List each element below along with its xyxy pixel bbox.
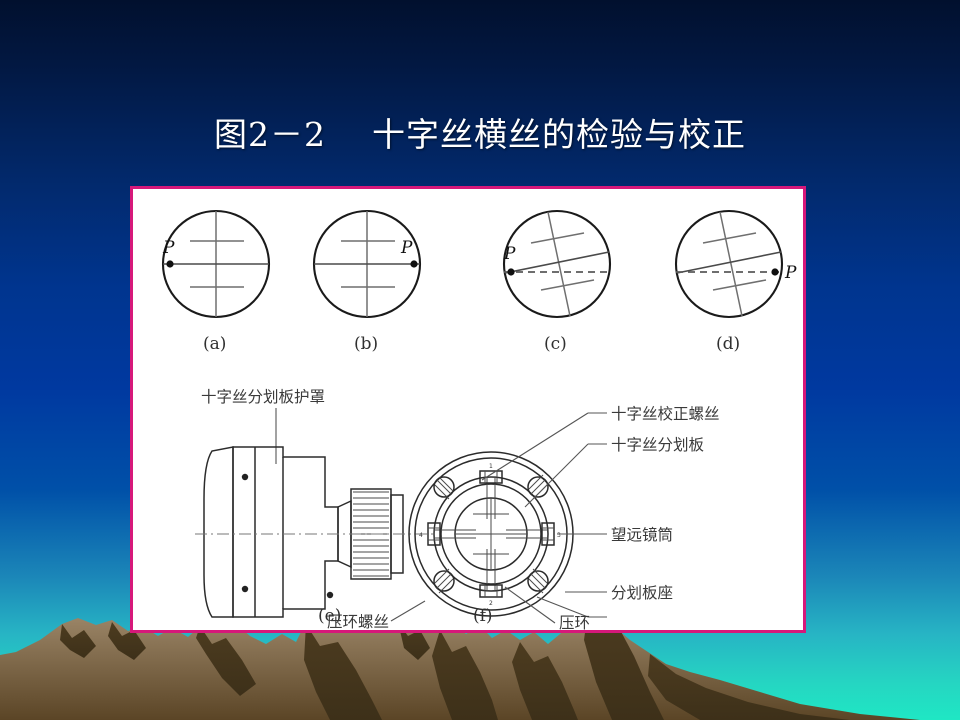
- screw-dot-upper-e: [242, 474, 248, 480]
- screw-dot-lower-e: [242, 586, 248, 592]
- reticle-view-d: P (d): [676, 211, 797, 354]
- point-p-label-b: P: [400, 238, 413, 258]
- caption-d: (d): [716, 334, 740, 354]
- callout-label-plate-seat: 分划板座: [611, 584, 673, 602]
- callout-label-telescope-tube: 望远镜筒: [611, 525, 673, 544]
- reticle-view-b: P (b): [314, 211, 420, 354]
- page-title: 图2－2 十字丝横丝的检验与校正: [0, 108, 960, 156]
- callout-leader-reticle-plate: [525, 444, 588, 507]
- section-view-f: 1 2 3: [409, 452, 573, 626]
- point-p-marker-c: [507, 268, 514, 275]
- callout-label-reticle-cover: 十字丝分划板护罩: [201, 388, 325, 406]
- point-p-marker-d: [771, 268, 778, 275]
- callout-leader-correction-screw: [482, 413, 588, 480]
- point-p-marker-b: [410, 260, 417, 267]
- callout-label-correction-screw: 十字丝校正螺丝: [611, 405, 720, 423]
- screw-number-4: 4: [419, 532, 423, 539]
- reticle-view-a: P (a): [162, 211, 269, 354]
- screw-number-1: 1: [489, 463, 493, 470]
- screw-dot-right-e: [327, 592, 333, 598]
- caption-c: (c): [544, 334, 567, 354]
- callout-label-press-ring: 压环: [559, 614, 590, 630]
- figure-panel: .outline{fill:none;stroke:#1a1a1a;stroke…: [130, 186, 806, 633]
- ring-screw-bottom-left: [434, 569, 454, 593]
- reticle-view-c: P (c): [503, 211, 610, 354]
- screw-number-3: 3: [557, 532, 561, 539]
- callout-label-reticle-plate: 十字丝分划板: [611, 436, 704, 454]
- point-p-label-c: P: [503, 244, 516, 264]
- callout-label-ring-screw: 压环螺丝: [327, 613, 389, 630]
- caption-a: (a): [203, 334, 226, 354]
- slide-canvas: 图2－2 十字丝横丝的检验与校正 .outline{fill:none;stro…: [0, 0, 960, 720]
- caption-f: (f): [473, 606, 493, 626]
- point-p-label-d: P: [784, 263, 797, 283]
- section-view-e: 十字丝分划板护罩: [195, 388, 433, 626]
- callout-leader-ring-screw: [391, 601, 425, 621]
- caption-b: (b): [354, 334, 378, 354]
- point-p-label-a: P: [162, 238, 175, 258]
- figure-illustration: .outline{fill:none;stroke:#1a1a1a;stroke…: [133, 189, 803, 630]
- ring-screw-top-left: [434, 477, 454, 499]
- ring-screw-bottom-right: [528, 569, 548, 593]
- point-p-marker-a: [166, 260, 173, 267]
